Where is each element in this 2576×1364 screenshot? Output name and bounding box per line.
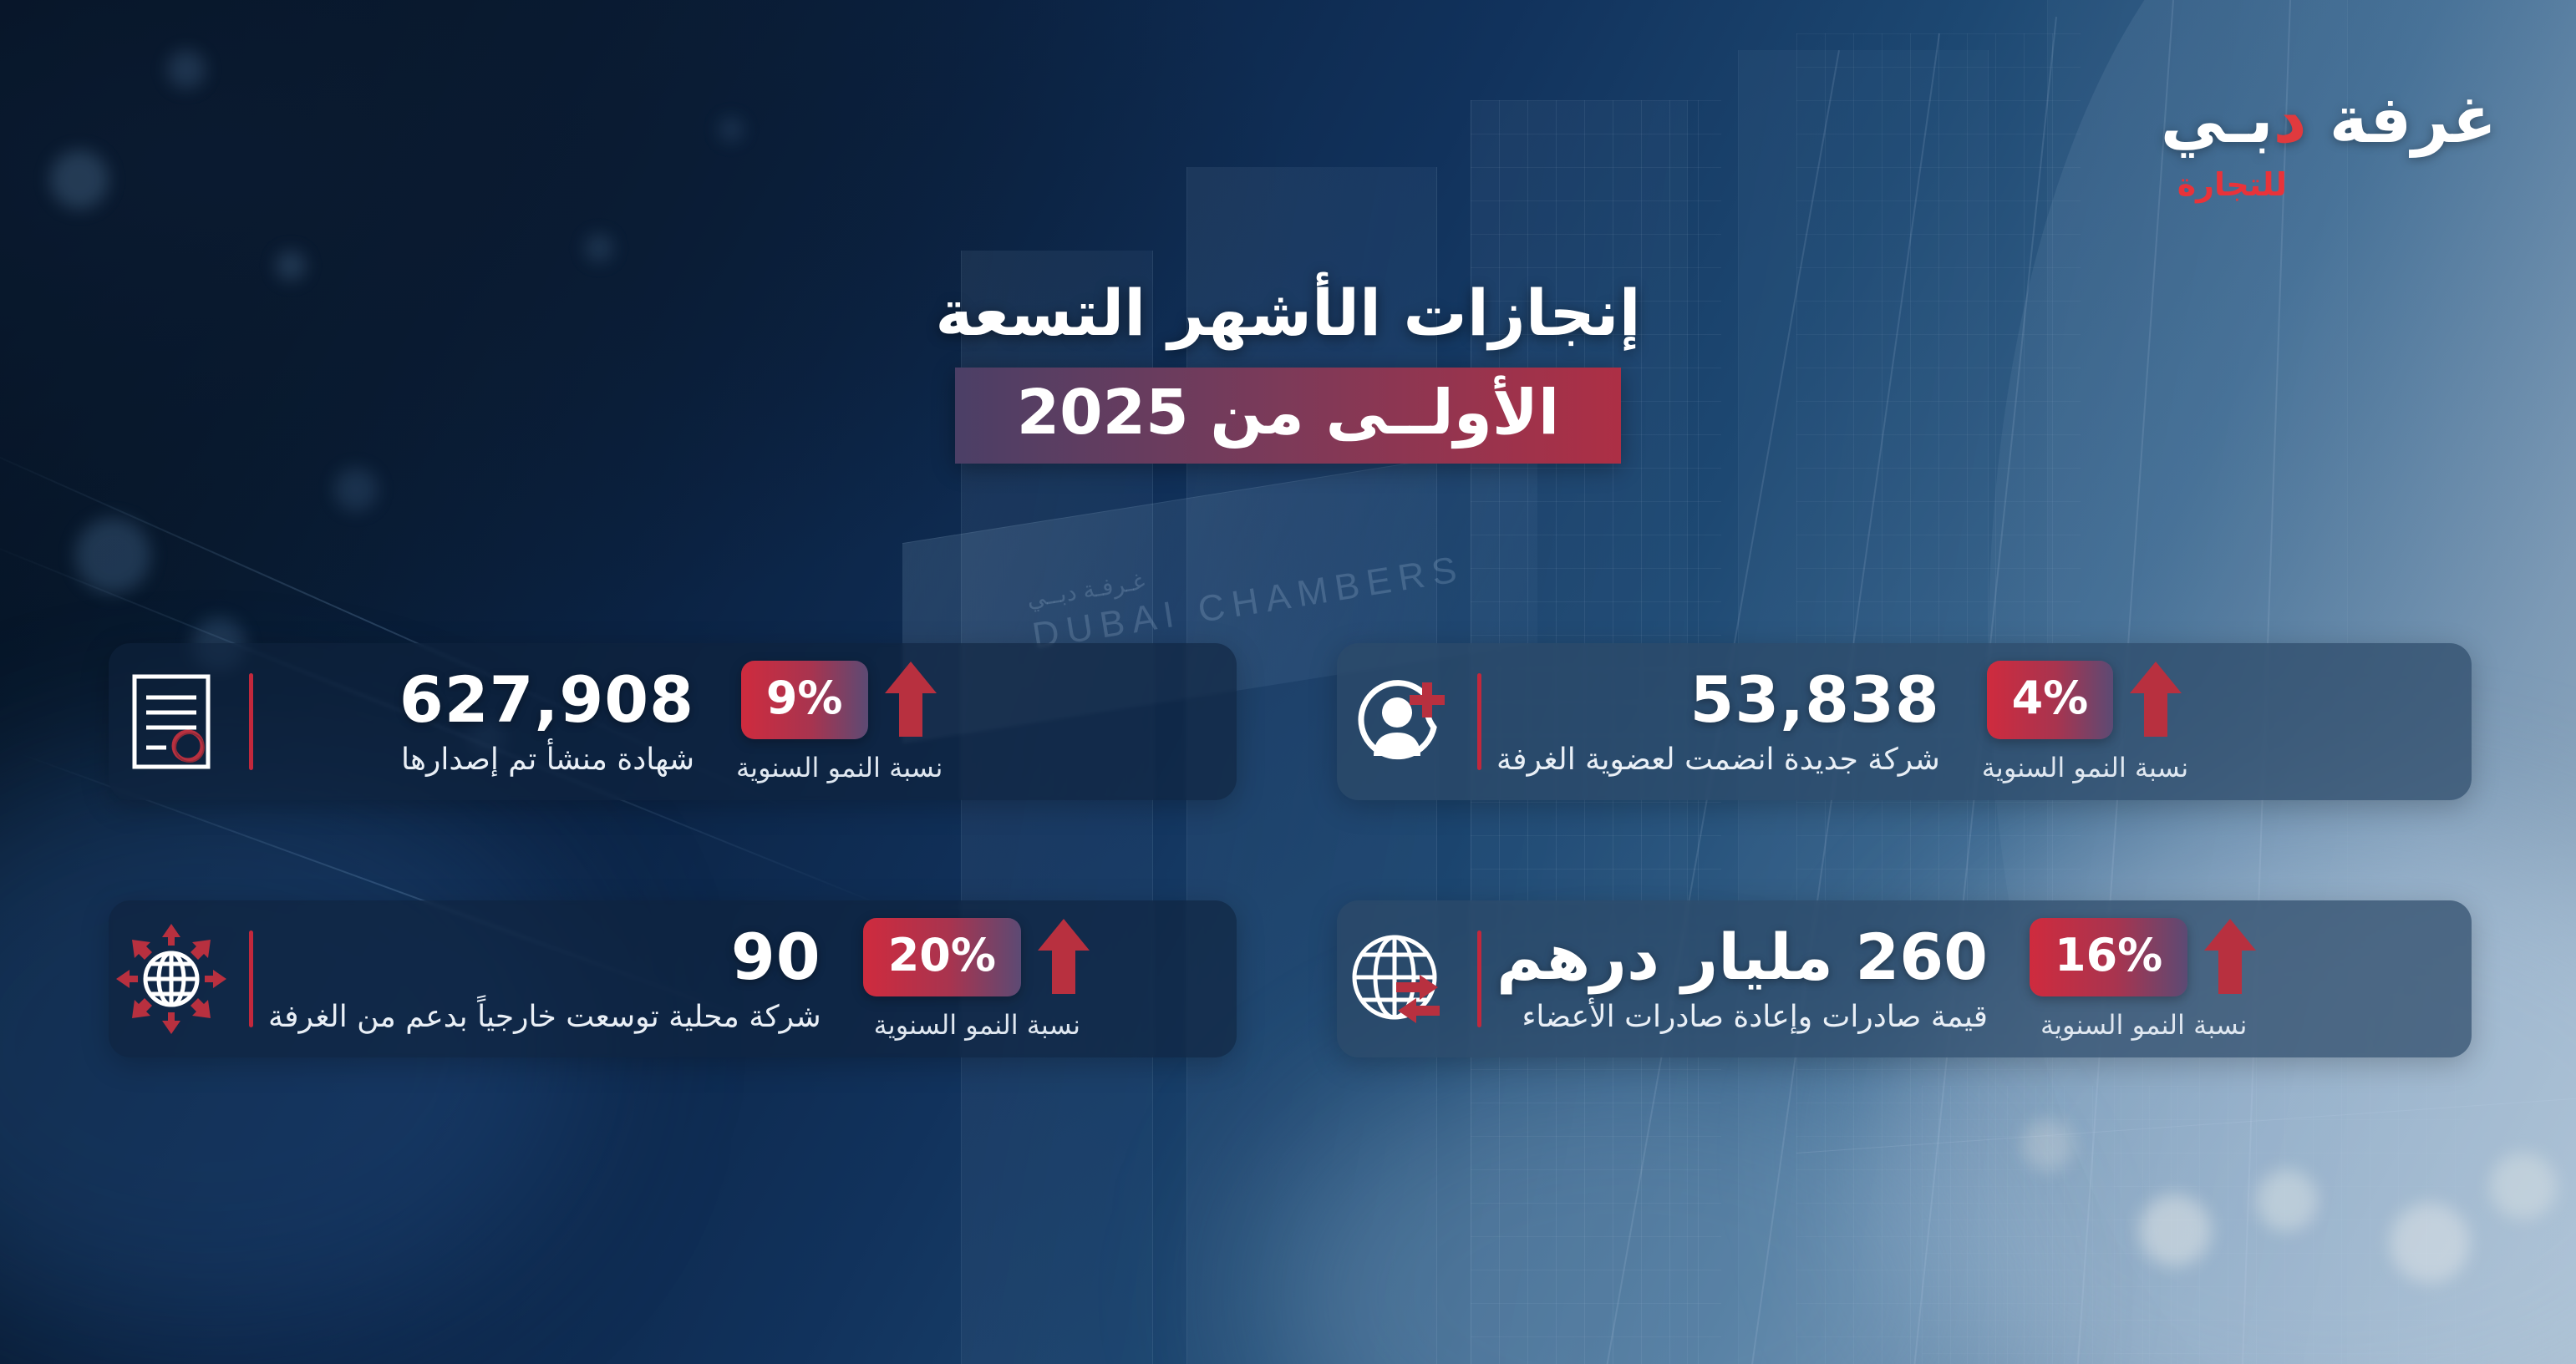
- globe-exchange-icon: [1337, 927, 1462, 1031]
- growth-caption: نسبة النمو السنوية: [736, 752, 943, 783]
- growth-row: 4%: [1987, 660, 2184, 740]
- stat-value: 53,838: [1689, 667, 1939, 733]
- logo-text-suffix: بـي: [2161, 83, 2274, 158]
- bokeh-dot: [2390, 1203, 2470, 1283]
- bokeh-dot: [167, 50, 206, 89]
- bokeh-dot: [2139, 1194, 2211, 1266]
- structural-line: [1796, 1094, 2576, 1154]
- stat-value: 260 مليار درهم: [1496, 924, 1988, 991]
- signage-arabic: غـرفـة دبــي: [1024, 518, 1460, 613]
- growth-percentage-badge: 20%: [863, 918, 1021, 996]
- person-add-icon: [1337, 672, 1462, 771]
- growth-row: 9%: [741, 660, 938, 740]
- card-divider: [1477, 673, 1481, 770]
- bokeh-dot: [75, 518, 150, 593]
- bokeh-dot: [2490, 1153, 2557, 1219]
- bokeh-dot: [585, 234, 613, 262]
- bokeh-dot: [719, 117, 744, 142]
- bokeh-dot: [334, 468, 378, 511]
- bokeh-dot: [50, 150, 109, 209]
- card-figures: 90 شركة محلية توسعت خارجياً بدعم من الغر…: [268, 924, 830, 1035]
- logo-subtitle: للتجارة: [2161, 166, 2497, 203]
- dubai-chamber-logo: غرفة دبـي للتجارة: [2161, 88, 2497, 203]
- growth-block: 9% نسبة النمو السنوية: [703, 660, 1009, 783]
- globe-expand-icon: [109, 922, 234, 1036]
- infographic-canvas: غـرفـة دبــي DUBAI CHAMBERS غرفة دبـي لل…: [0, 0, 2576, 1364]
- bokeh-dot: [2256, 1169, 2318, 1231]
- card-figures: 260 مليار درهم قيمة صادرات وإعادة صادرات…: [1496, 924, 1996, 1035]
- arrow-up-icon: [2203, 917, 2258, 997]
- growth-row: 16%: [2030, 917, 2258, 997]
- haze-glow: [1253, 1044, 2005, 1364]
- stat-label: شركة محلية توسعت خارجياً بدعم من الغرفة: [268, 1000, 821, 1034]
- growth-block: 4% نسبة النمو السنوية: [1949, 660, 2255, 783]
- growth-block: 16% نسبة النمو السنوية: [1996, 917, 2324, 1041]
- stat-card-certificates: 627,908 شهادة منشأ تم إصدارها 9% نسبة ال…: [109, 643, 1237, 800]
- stat-label: شركة جديدة انضمت لعضوية الغرفة: [1496, 743, 1940, 777]
- logo-wordmark: غرفة دبـي: [2161, 88, 2497, 153]
- arrow-up-icon: [2128, 660, 2183, 740]
- card-divider: [1477, 930, 1481, 1027]
- glass-facade-grid: [1922, 1086, 2197, 1364]
- logo-accent-letter: د: [2274, 83, 2307, 158]
- growth-caption: نسبة النمو السنوية: [2040, 1009, 2247, 1041]
- card-divider: [249, 673, 253, 770]
- card-figures: 53,838 شركة جديدة انضمت لعضوية الغرفة: [1496, 667, 1949, 778]
- card-divider: [249, 930, 253, 1027]
- headline-block: إنجازات الأشهر التسعة الأولــى من 2025: [0, 276, 2576, 464]
- signage-latin: DUBAI CHAMBERS: [1029, 548, 1466, 657]
- stat-value: 90: [731, 924, 821, 991]
- logo-text-prefix: غرفة: [2307, 83, 2497, 158]
- arrow-up-icon: [883, 660, 938, 740]
- stat-label: قيمة صادرات وإعادة صادرات الأعضاء: [1522, 1000, 1989, 1034]
- growth-percentage-badge: 4%: [1987, 661, 2114, 739]
- growth-percentage-badge: 9%: [741, 661, 868, 739]
- arrow-up-icon: [1036, 917, 1091, 997]
- certificate-seal-icon: [109, 672, 234, 771]
- bokeh-dot: [2022, 1119, 2074, 1171]
- stat-card-expansion: 90 شركة محلية توسعت خارجياً بدعم من الغر…: [109, 900, 1237, 1057]
- stat-value: 627,908: [399, 667, 694, 733]
- growth-row: 20%: [863, 917, 1091, 997]
- stat-card-members: 53,838 شركة جديدة انضمت لعضوية الغرفة 4%…: [1337, 643, 2472, 800]
- growth-caption: نسبة النمو السنوية: [1982, 752, 2188, 783]
- title-period-badge: الأولــى من 2025: [955, 368, 1622, 464]
- signage-text: غـرفـة دبــي DUBAI CHAMBERS: [1024, 518, 1466, 658]
- growth-percentage-badge: 16%: [2030, 918, 2187, 996]
- growth-caption: نسبة النمو السنوية: [874, 1009, 1080, 1041]
- stat-card-exports: 260 مليار درهم قيمة صادرات وإعادة صادرات…: [1337, 900, 2472, 1057]
- stat-label: شهادة منشأ تم إصدارها: [401, 743, 694, 777]
- growth-block: 20% نسبة النمو السنوية: [830, 917, 1158, 1041]
- card-figures: 627,908 شهادة منشأ تم إصدارها: [268, 667, 703, 778]
- page-title: إنجازات الأشهر التسعة: [0, 276, 2576, 351]
